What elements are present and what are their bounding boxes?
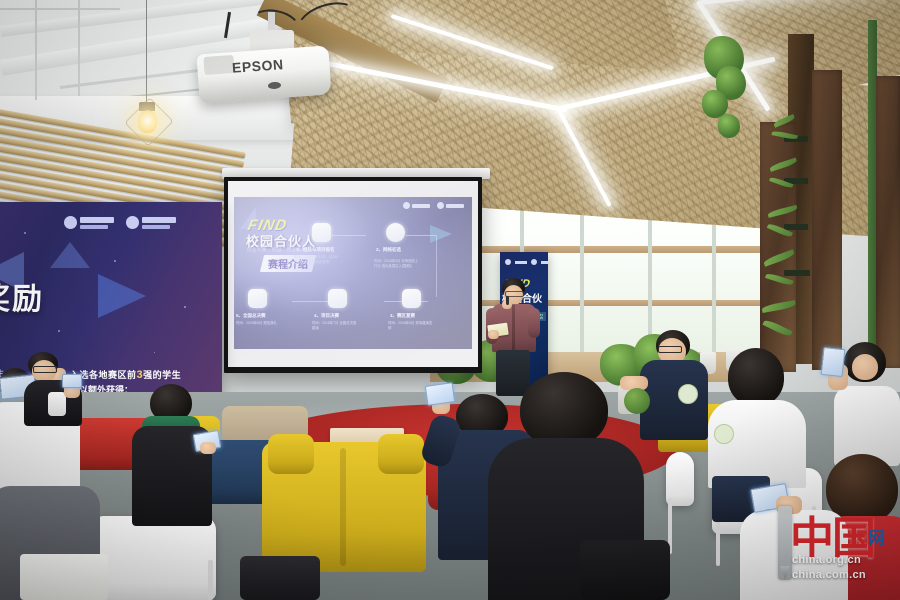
slide-step-icon-2 <box>386 223 405 242</box>
armchair-arm-left <box>268 434 314 474</box>
slide-step-icon-3 <box>248 289 267 308</box>
bag-on-floor <box>580 540 670 600</box>
slide-step-icon-1 <box>312 223 331 242</box>
slide-step-label-4: 4、项目决赛 <box>314 313 339 319</box>
presenter-hand <box>488 330 499 339</box>
name-badge <box>714 424 734 444</box>
bag-on-floor <box>240 556 320 600</box>
watermark-url-com: china.com.cn <box>792 569 866 581</box>
eyeglasses <box>658 346 682 353</box>
microphone <box>506 296 509 305</box>
slide-sponsor-logos <box>403 202 464 209</box>
pendant-lamp-wire <box>146 0 147 104</box>
ceiling-pipe <box>0 8 120 10</box>
slide-step-label-1: 1、组队与项目报名 <box>296 247 335 253</box>
projector-vent <box>203 55 234 75</box>
wall-plants <box>750 120 820 380</box>
photo-scene: EPSON <box>0 0 900 600</box>
projector-body <box>196 45 331 103</box>
banner-sponsor-logos <box>64 216 176 229</box>
laptop-or-bag <box>20 554 108 600</box>
slide-step-label-2: 2、网络初选 <box>376 247 401 253</box>
hanger-rod <box>78 0 80 96</box>
smartphone[interactable] <box>62 374 82 388</box>
slide-step-icon-5 <box>402 289 421 308</box>
hanger-rod <box>35 0 37 100</box>
slide-step-label-5: 3、赛区复赛 <box>390 313 415 319</box>
watermark-logo-wang: 网 <box>868 524 885 549</box>
person-torso <box>640 360 708 440</box>
hanging-vine-plant <box>700 36 756 236</box>
slide-step-detail-4: 时间：2018年7月 全国总决赛路演 <box>312 321 358 331</box>
smartphone[interactable] <box>425 382 456 406</box>
person-sleeve <box>48 392 66 416</box>
chair-leg <box>208 560 213 600</box>
audience-member <box>22 352 112 442</box>
person-hair <box>520 372 608 448</box>
person-hand <box>200 442 216 454</box>
shirt-placket <box>512 305 515 351</box>
slide-step-detail-2: 时间：2018年5月 评审团线上打分 选出各赛区入围团队 <box>374 259 420 269</box>
slide-step-detail-3: 时间：2018年8月 颁奖典礼 <box>236 321 282 326</box>
person-torso <box>708 400 806 488</box>
audience-member-foreground <box>0 466 130 600</box>
slide-step-detail-5: 时间：2018年6月 现场路演答辩 <box>388 321 434 331</box>
person-hair <box>728 348 784 406</box>
table-plant <box>624 388 650 414</box>
smartphone[interactable] <box>821 347 846 377</box>
slide-step-detail-1: 时间：2018年4月1日 - 4月30日 线上提交项目计划书 <box>294 255 340 265</box>
eyeglasses <box>33 366 57 373</box>
rollup-logos <box>505 259 548 265</box>
wood-wall-plank <box>876 76 900 368</box>
audience-member <box>700 348 810 508</box>
person-face <box>852 354 878 380</box>
presenter-arm-right <box>528 308 540 338</box>
watermark: 中国 网 china.org.cn china.com.cn <box>772 502 892 590</box>
watermark-url-org: china.org.cn <box>792 554 861 566</box>
projection-screen: FIND 校园合伙人 创业大赛 · 校园 · 创业大赛 赛程介绍 1、组队与项目… <box>228 181 478 367</box>
presentation-slide: FIND 校园合伙人 创业大赛 · 校园 · 创业大赛 赛程介绍 1、组队与项目… <box>234 197 472 349</box>
audience-member <box>128 384 224 534</box>
slide-step-icon-4 <box>328 289 347 308</box>
audience-member <box>832 342 900 472</box>
name-badge <box>678 384 698 404</box>
pendant-light-bulb <box>138 110 157 133</box>
armchair-seam <box>340 448 346 566</box>
slide-step-label-3: 5、全国总决赛 <box>236 313 266 319</box>
banner-title: 奖励 <box>0 274 44 318</box>
